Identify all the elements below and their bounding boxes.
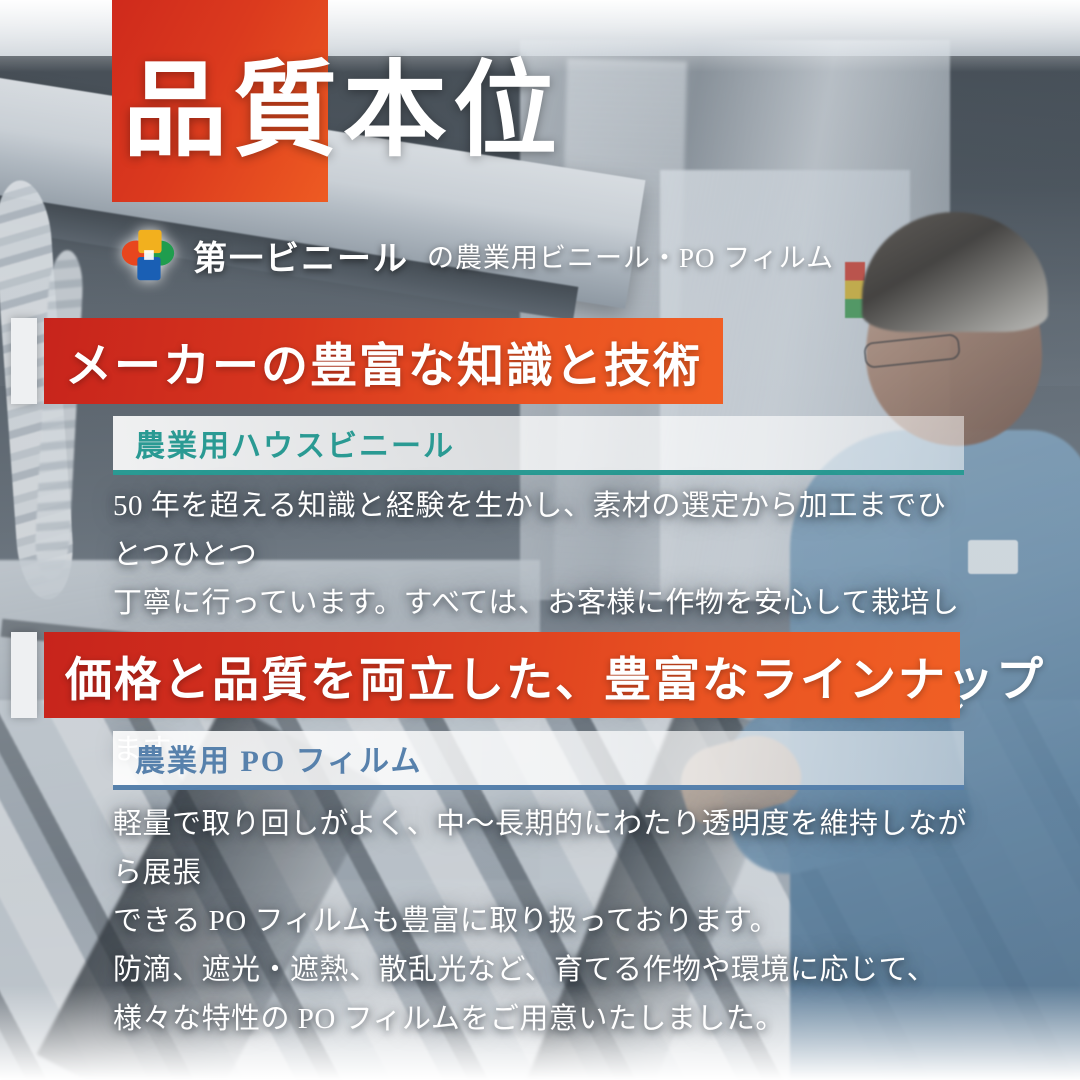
page-title: 品質本位 xyxy=(123,60,563,164)
content-layer: 品質本位 第一ビニール の農業用ビニール・PO フィルム メーカーの豊富な知識と… xyxy=(0,0,1080,1080)
body-line: 様々な特性の PO フィルムをご用意いたしました。 xyxy=(113,995,973,1044)
body-line: 防滴、遮光・遮熱、散乱光など、育てる作物や環境に応じて、 xyxy=(113,946,973,995)
dai-ichi-vinyl-flower-logo-icon xyxy=(117,224,179,286)
banner-band-2: 価格と品質を両立した、豊富なラインナップ xyxy=(44,632,960,718)
section-banner-2-label: 価格と品質を両立した、豊富なラインナップ xyxy=(44,641,1045,710)
subheading-plate-1-label: 農業用ハウスビニール xyxy=(113,421,455,465)
brand-tagline: の農業用ビニール・PO フィルム xyxy=(427,236,834,275)
section-banner-2: 価格と品質を両立した、豊富なラインナップ xyxy=(0,632,975,718)
banner-tick-mark-1 xyxy=(11,318,37,404)
body-line: 50 年を超える知識と経験を生かし、素材の選定から加工までひとつひとつ xyxy=(113,482,973,579)
promo-banner-stage: 品質本位 第一ビニール の農業用ビニール・PO フィルム メーカーの豊富な知識と… xyxy=(0,0,1080,1080)
section-body-2: 軽量で取り回しがよく、中〜長期的にわたり透明度を維持しながら展張 できる PO … xyxy=(113,800,973,1044)
subheading-plate-2-label: 農業用 PO フィルム xyxy=(113,736,422,780)
brand-row: 第一ビニール の農業用ビニール・PO フィルム xyxy=(117,222,834,288)
subheading-plate-2: 農業用 PO フィルム xyxy=(113,731,964,790)
brand-name: 第一ビニール xyxy=(193,231,409,280)
body-line: できる PO フィルムも豊富に取り扱っております。 xyxy=(113,897,973,946)
subheading-plate-1: 農業用ハウスビニール xyxy=(113,416,964,475)
body-line: 軽量で取り回しがよく、中〜長期的にわたり透明度を維持しながら展張 xyxy=(113,800,973,897)
banner-band-1: メーカーの豊富な知識と技術 xyxy=(44,318,723,404)
section-banner-1-label: メーカーの豊富な知識と技術 xyxy=(44,327,702,396)
banner-tick-mark-2 xyxy=(11,632,37,718)
section-banner-1: メーカーの豊富な知識と技術 xyxy=(0,318,740,404)
